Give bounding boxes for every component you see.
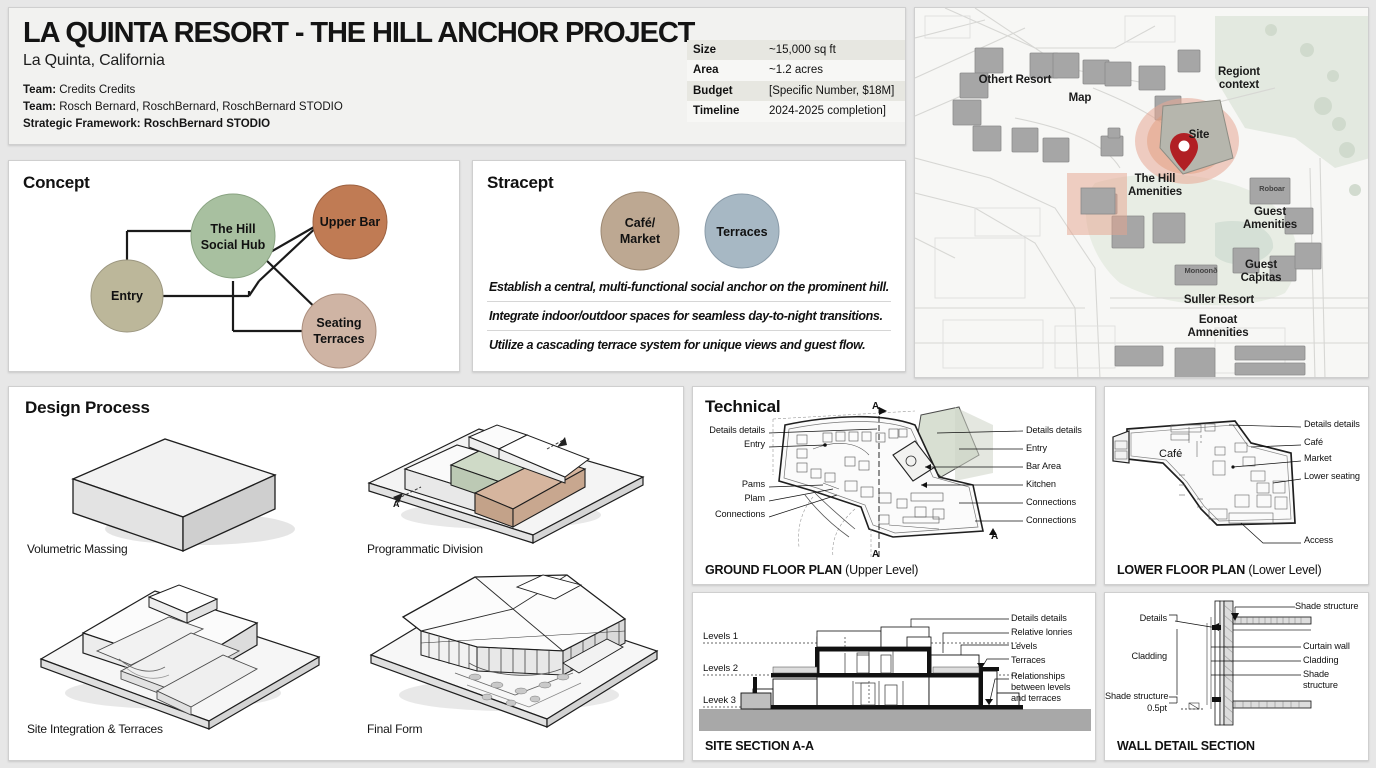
design-step-programmatic-division: A	[351, 407, 671, 557]
section-mark-a: A	[393, 499, 400, 509]
gfp-label-kitchen: Kitchen	[1026, 479, 1056, 490]
design-step-caption: Final Form	[367, 722, 422, 736]
table-row: Budget [Specific Number, $18M]	[687, 81, 905, 101]
wall-label-05pt: 0.5pt	[1105, 703, 1167, 714]
stracept-node-label-line2: Market	[620, 232, 661, 246]
lfp-label-lower-seating: Lower seating	[1304, 471, 1360, 482]
stat-value: ~15,000 sq ft	[763, 40, 905, 60]
technical-ground-floor-panel: Technical	[692, 386, 1096, 585]
site-section-title: SITE SECTION A-A	[705, 739, 814, 753]
stracept-node-label-line1: Café/	[625, 216, 656, 230]
lfp-label-details-details: Details details	[1304, 419, 1360, 430]
gfp-section-mark-a-right: A	[991, 531, 998, 543]
concept-node-label-line1: The Hill	[210, 222, 255, 236]
wall-label-details: Details	[1105, 613, 1167, 624]
header-panel: LA QUINTA RESORT - THE HILL ANCHOR PROJE…	[8, 7, 906, 145]
stracept-panel: Stracept Café/ Market Terraces Establish…	[472, 160, 906, 372]
stat-value: ~1.2 acres	[763, 60, 905, 80]
concept-node-label-line2: Terraces	[313, 332, 364, 346]
iso-volumetric-massing	[25, 417, 335, 557]
concept-node-seating-terraces: Seating Terraces	[302, 294, 376, 368]
map-hill-amenities-highlight	[1067, 173, 1127, 235]
section-label-relative-lonries: Relative lonries	[1011, 627, 1072, 638]
lfp-label-market: Market	[1304, 453, 1331, 464]
stracept-statement: Establish a central, multi-functional so…	[487, 273, 891, 301]
concept-title: Concept	[23, 173, 90, 193]
section-level-label-1: Levels 1	[703, 631, 738, 643]
iso-programmatic-division: A	[351, 407, 671, 557]
wall-detail-panel: Details Cladding Shade structure 0.5pt S…	[1104, 592, 1369, 761]
stracept-statement: Utilize a cascading terrace system for u…	[487, 330, 891, 359]
concept-panel: Concept Entry T	[8, 160, 460, 372]
design-step-caption: Programmatic Division	[367, 542, 483, 556]
wall-detail-title: WALL DETAIL SECTION	[1117, 739, 1255, 753]
section-label-relationships: Relationships between levels and terrace…	[1011, 671, 1085, 705]
design-step-site-integration	[23, 575, 343, 735]
gfp-label-connections-2: Connections	[1026, 515, 1076, 526]
design-step-final-form	[357, 573, 677, 733]
concept-node-label-line1: Seating	[316, 316, 361, 330]
gfp-label-bar-area: Bar Area	[1026, 461, 1061, 472]
stracept-node-terraces: Terraces	[705, 194, 779, 268]
project-stats-table: Size ~15,000 sq ft Area ~1.2 acres Budge…	[687, 40, 905, 122]
ground-floor-plan-title: GROUND FLOOR PLAN (Upper Level)	[705, 563, 918, 577]
table-row: Timeline 2024-2025 completion]	[687, 101, 905, 121]
table-row: Area ~1.2 acres	[687, 60, 905, 80]
concept-node-label-line2: Social Hub	[201, 238, 266, 252]
section-label-terraces: Terraces	[1011, 655, 1045, 666]
design-step-volumetric-massing	[25, 417, 335, 557]
site-map-drawing	[915, 8, 1369, 378]
section-level-label-2: Levels 2	[703, 663, 738, 675]
stat-key: Size	[687, 40, 763, 60]
gfp-section-mark-a-top: A	[872, 401, 879, 413]
stat-key: Timeline	[687, 101, 763, 121]
concept-node-entry: Entry	[91, 260, 163, 332]
presentation-board: LA QUINTA RESORT - THE HILL ANCHOR PROJE…	[0, 0, 1376, 768]
wall-label-shade-structure-right: Shadestructure	[1303, 669, 1357, 691]
site-map-panel[interactable]: Othert Resort Map Regiont context Site T…	[914, 7, 1369, 378]
wall-label-curtain-wall: Curtain wall	[1303, 641, 1350, 652]
design-process-title: Design Process	[25, 398, 150, 418]
wall-label-shade-structure-top: Shade structure	[1295, 601, 1358, 612]
table-row: Size ~15,000 sq ft	[687, 40, 905, 60]
stracept-node-cafe-market: Café/ Market	[601, 192, 679, 270]
iso-final-form	[357, 573, 677, 733]
lfp-room-label-cafe: Café	[1159, 448, 1182, 460]
design-step-caption: Volumetric Massing	[27, 542, 127, 556]
gfp-label-plam: Plam	[697, 493, 765, 504]
gfp-label-entry-right: Entry	[1026, 443, 1047, 454]
lower-floor-plan-title: LOWER FLOOR PLAN (Lower Level)	[1117, 563, 1321, 577]
wall-label-cladding-right: Cladding	[1303, 655, 1338, 666]
concept-node-label: Entry	[111, 289, 143, 303]
design-step-caption: Site Integration & Terraces	[27, 722, 163, 736]
design-process-panel: Design Process Volumetric Massing	[8, 386, 684, 761]
gfp-label-connections-1: Connections	[1026, 497, 1076, 508]
wall-label-cladding: Cladding	[1105, 651, 1167, 662]
stracept-statement: Integrate indoor/outdoor spaces for seam…	[487, 301, 891, 330]
concept-node-upper-bar: Upper Bar	[313, 185, 387, 259]
section-label-details-details: Details details	[1011, 613, 1067, 624]
stat-value: [Specific Number, $18M]	[763, 81, 905, 101]
lfp-label-cafe: Café	[1304, 437, 1323, 448]
lfp-label-access: Access	[1304, 535, 1333, 546]
concept-node-hub: The Hill Social Hub	[191, 194, 275, 278]
stracept-diagram: Café/ Market Terraces	[473, 165, 906, 285]
stracept-node-label: Terraces	[716, 225, 767, 239]
stracept-statements: Establish a central, multi-functional so…	[487, 273, 891, 359]
stat-value: 2024-2025 completion]	[763, 101, 905, 121]
gfp-label-entry: Entry	[697, 439, 765, 450]
gfp-label-details-details: Details details	[697, 425, 765, 436]
technical-lower-floor-panel: Café Details details Café Market Lower s…	[1104, 386, 1369, 585]
gfp-label-pams: Pams	[697, 479, 765, 490]
gfp-section-mark-a-bottom: A	[872, 549, 879, 561]
wall-label-shade-structure: Shade structure	[1105, 691, 1167, 702]
concept-node-label: Upper Bar	[320, 215, 381, 229]
stat-key: Budget	[687, 81, 763, 101]
gfp-label-connections: Connections	[697, 509, 765, 520]
site-section-panel: Levels 1 Levels 2 Levek 3 Details detail…	[692, 592, 1096, 761]
iso-site-integration	[23, 575, 343, 735]
stat-key: Area	[687, 60, 763, 80]
section-label-levels: Levels	[1011, 641, 1037, 652]
gfp-label-details-details-right: Details details	[1026, 425, 1082, 436]
section-level-label-3: Levek 3	[703, 695, 736, 707]
